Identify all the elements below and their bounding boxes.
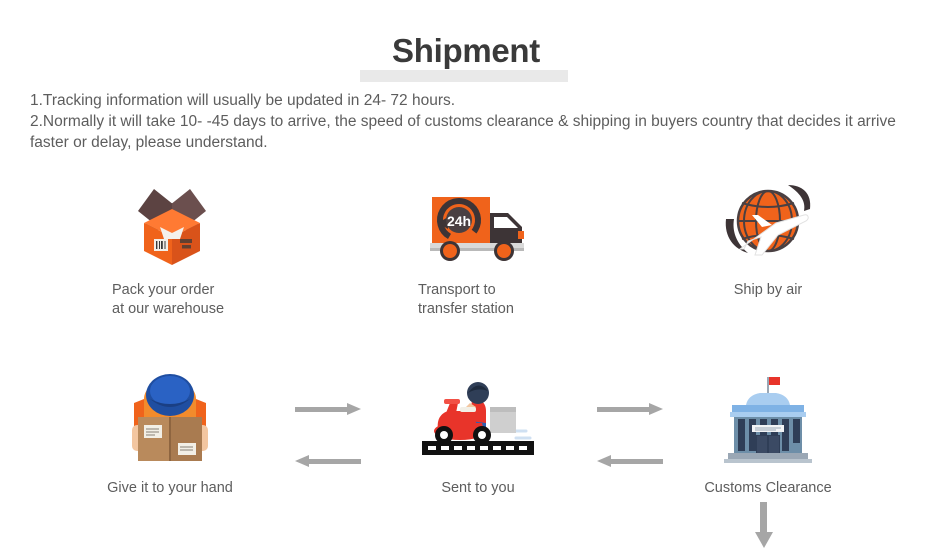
flow-step-customs-label: Customs Clearance	[668, 479, 868, 498]
flow-row-top: Pack your order at our warehouse	[0, 175, 932, 325]
courier-carrying-box-icon	[70, 373, 270, 465]
flow-step-sent-to-you-label: Sent to you	[378, 479, 578, 498]
flow-step-ship-air: Ship by air	[668, 175, 868, 300]
page-title: Shipment	[392, 28, 540, 74]
scooter-courier-icon	[378, 373, 578, 465]
flow-step-pack-label: Pack your order at our warehouse	[72, 281, 272, 319]
open-box-icon	[72, 175, 272, 267]
flow-step-ship-air-label: Ship by air	[668, 281, 868, 300]
customs-building-icon	[668, 373, 868, 465]
flow-step-transport-label: Transport to transfer station	[378, 281, 578, 319]
shipping-policy-text: 1.Tracking information will usually be u…	[30, 90, 902, 153]
delivery-truck-icon: 24h	[378, 175, 578, 267]
arrow-left-icon-1	[295, 455, 361, 467]
flow-step-give-hand-label: Give it to your hand	[70, 479, 270, 498]
policy-line-2: 2.Normally it will take 10- -45 days to …	[30, 111, 902, 153]
flow-row-bottom: Give it to your hand	[0, 373, 932, 523]
shipment-flow-diagram: Pack your order at our warehouse	[0, 175, 932, 523]
page-header: Shipment	[0, 28, 932, 78]
flow-step-pack: Pack your order at our warehouse	[72, 175, 272, 319]
arrow-left-icon-2	[597, 455, 663, 467]
flow-step-transport: 24h Transport to transfer station	[378, 175, 578, 319]
truck-24h-badge-text: 24h	[447, 213, 471, 229]
flow-step-give-hand: Give it to your hand	[70, 373, 270, 498]
policy-line-1: 1.Tracking information will usually be u…	[30, 90, 902, 111]
flow-step-customs: Customs Clearance	[668, 373, 868, 498]
flow-step-sent-to-you: Sent to you	[378, 373, 578, 498]
globe-airplane-icon	[668, 175, 868, 267]
